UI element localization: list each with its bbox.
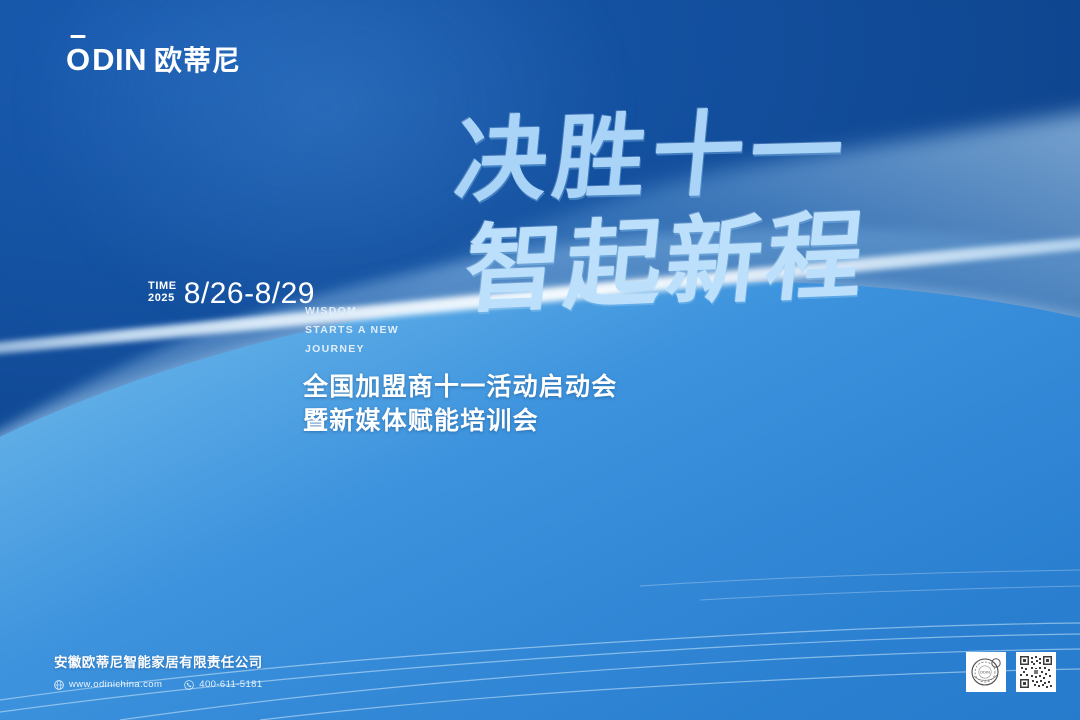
tagline-line-3: JOURNEY (305, 340, 399, 359)
seal-icon: ODIN (968, 654, 1004, 690)
footer-contact-row: www.odinichina.com 400-611-5181 (54, 679, 263, 690)
website-contact: www.odinichina.com (54, 679, 162, 690)
globe-icon (54, 680, 64, 690)
tagline-line-1: WISDOM (305, 302, 399, 321)
qr-code-icon (1018, 654, 1054, 690)
phone-text: 400-611-5181 (199, 679, 262, 690)
footer-company-name: 安徽欧蒂尼智能家居有限责任公司 (54, 653, 263, 673)
english-tagline: WISDOM STARTS A NEW JOURNEY (305, 302, 399, 359)
footer-block: 安徽欧蒂尼智能家居有限责任公司 www.odinichina.com 400-6… (54, 653, 263, 690)
svg-text:ODIN: ODIN (980, 670, 990, 675)
phone-icon (184, 680, 194, 690)
qr-code-badge[interactable] (1016, 652, 1056, 692)
poster-canvas: O DIN 欧蒂尼 决胜十一 智起新程 TIME 2025 8/26-8/29 … (0, 0, 1080, 720)
headline-line-2: 智起新程 (460, 207, 872, 318)
tagline-line-2: STARTS A NEW (305, 321, 399, 340)
logo-o-mark: O (66, 44, 90, 75)
logo-chinese-text: 欧蒂尼 (154, 47, 241, 75)
macron-icon (71, 35, 86, 38)
badge-group: ODIN (966, 652, 1056, 692)
brand-logo: O DIN 欧蒂尼 (66, 44, 241, 75)
headline-line-1: 决胜十一 (451, 105, 853, 207)
event-subtitle: 全国加盟商十一活动启动会 暨新媒体赋能培训会 (303, 370, 617, 438)
seal-stamp-badge[interactable]: ODIN (966, 652, 1006, 692)
phone-contact: 400-611-5181 (184, 679, 262, 690)
event-date-block: TIME 2025 8/26-8/29 (148, 277, 315, 311)
website-text: www.odinichina.com (69, 679, 162, 690)
headline-block: 决胜十一 智起新程 (448, 110, 918, 345)
subtitle-line-1: 全国加盟商十一活动启动会 (303, 370, 617, 404)
time-year: 2025 (148, 293, 177, 305)
event-date-range: 8/26-8/29 (184, 277, 315, 311)
logo-latin-text: DIN (92, 44, 147, 75)
time-label-stack: TIME 2025 (148, 281, 177, 307)
subtitle-line-2: 暨新媒体赋能培训会 (303, 404, 617, 438)
